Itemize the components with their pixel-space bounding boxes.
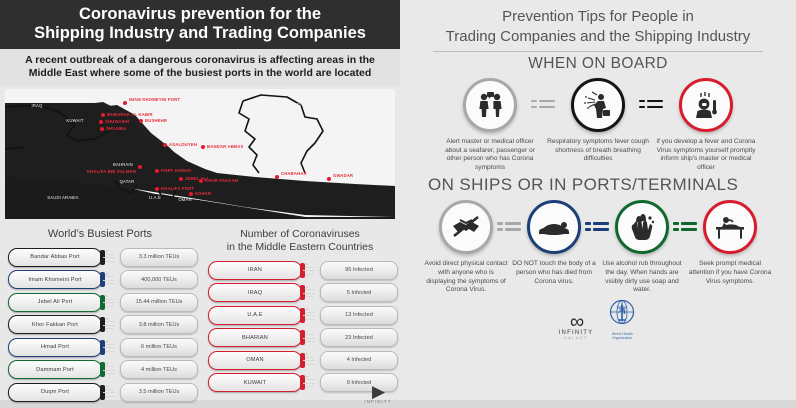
svg-text:IRAN: IRAN	[215, 102, 226, 107]
row-connector	[302, 284, 318, 301]
row-connector	[302, 374, 318, 391]
step-connector	[497, 222, 523, 232]
hand-washing-icon-badge	[615, 200, 669, 254]
country-label-text: IRAQ	[248, 290, 262, 296]
port-value: 6 million TEUs	[120, 338, 198, 357]
infinity-mark-icon: ▶	[360, 385, 396, 399]
port-value-text: 6 million TEUs	[141, 344, 177, 350]
svg-text:KHALIFA PORT: KHALIFA PORT	[161, 186, 194, 191]
step-caption: Avoid direct physical contact with anyon…	[423, 254, 509, 294]
port-value-text: 15.44 million TEUs	[136, 299, 183, 305]
country-value-text: 4 Infected	[347, 357, 372, 363]
country-label: IRAN	[208, 261, 302, 280]
port-label: Khor Fakkan Port	[8, 315, 102, 334]
country-value: 95 Infected	[320, 261, 398, 280]
row-connector	[102, 361, 118, 378]
svg-text:KUWAIT: KUWAIT	[66, 118, 84, 123]
country-label-text: IRAN	[248, 267, 262, 273]
ports-chart: World’s Busiest Ports Bandar Abbas Port3…	[0, 223, 200, 408]
row-connector	[302, 352, 318, 369]
svg-text:SHUWAIKH: SHUWAIKH	[105, 119, 129, 124]
section-heading-onboard: WHEN ON BOARD	[400, 52, 796, 75]
port-value: 3.3 million TEUs	[120, 248, 198, 267]
svg-text:QATAR: QATAR	[120, 179, 135, 184]
prevention-step: DO NOT touch the body of a person who ha…	[510, 200, 598, 294]
prevention-step: Seek prompt medical attention if you hav…	[686, 200, 774, 294]
svg-text:PORT HAMAD: PORT HAMAD	[161, 168, 191, 173]
port-label-text: Jebel Ali Port	[38, 299, 73, 305]
svg-text:CHABAHAR: CHABAHAR	[281, 171, 307, 176]
medical-bed-icon	[714, 214, 746, 240]
port-value: 3.8 million TEUs	[120, 315, 198, 334]
no-handshake-icon-badge	[439, 200, 493, 254]
row-connector	[102, 316, 118, 333]
country-value: 5 Infected	[320, 283, 398, 302]
dead-body-icon	[537, 216, 571, 238]
cases-chart: Number of Coronaviruses in the Middle Ea…	[200, 223, 400, 408]
row-connector	[302, 329, 318, 346]
port-value: 400,000 TEUs	[120, 270, 198, 289]
row-connector	[102, 249, 118, 266]
port-label: Jebel Ali Port	[8, 293, 102, 312]
right-panel: Prevention Tips for People in Trading Co…	[400, 0, 796, 400]
svg-text:GWADAR: GWADAR	[333, 173, 353, 178]
coughing-person-icon	[582, 91, 614, 119]
row-connector	[302, 307, 318, 324]
step-caption: Use alcohol rub throughout the day. When…	[599, 254, 685, 294]
country-label: KUWAIT	[208, 373, 302, 392]
step-caption: Alert master or medical officer about a …	[438, 132, 542, 172]
row-connector	[302, 262, 318, 279]
hand-washing-icon	[627, 213, 657, 241]
svg-text:SOHAR: SOHAR	[195, 191, 211, 196]
infinity-galaxy-logo: ∞ INFINITY GALAXY	[559, 314, 594, 340]
dead-body-icon-badge	[527, 200, 581, 254]
table-row: Duqm Port3.5 million TEUs	[8, 382, 192, 402]
port-value-text: 3.3 million TEUs	[139, 254, 180, 260]
country-label-text: KUWAIT	[244, 380, 266, 386]
svg-text:BAHRAIN: BAHRAIN	[113, 162, 133, 167]
svg-text:IRAQ: IRAQ	[31, 103, 43, 108]
infographic-page: Coronavirus prevention for the Shipping …	[0, 0, 796, 400]
prevention-step: Use alcohol rub throughout the day. When…	[598, 200, 686, 294]
main-title-line1: Coronavirus prevention for the	[6, 5, 394, 24]
medical-bed-icon-badge	[703, 200, 757, 254]
who-emblem-icon	[607, 299, 637, 327]
table-row: IRAQ5 Infected	[208, 283, 392, 303]
port-label-text: Hmad Port	[41, 344, 69, 350]
svg-text:AFGANISTAN: AFGANISTAN	[291, 102, 319, 107]
infinity-name: INFINITY	[559, 330, 594, 336]
country-value: 13 Infected	[320, 306, 398, 325]
row-connector	[102, 271, 118, 288]
country-label: IRAQ	[208, 283, 302, 302]
svg-text:BANDAR ABBAS: BANDAR ABBAS	[207, 144, 243, 149]
left-charts: World’s Busiest Ports Bandar Abbas Port3…	[0, 223, 400, 408]
right-title-line1: Prevention Tips for People in	[400, 7, 796, 27]
ports-chart-title: World’s Busiest Ports	[0, 223, 200, 241]
table-row: Hmad Port6 million TEUs	[8, 337, 192, 357]
cases-chart-rows: IRAN95 InfectedIRAQ5 InfectedU.A.E13 Inf…	[200, 260, 400, 393]
country-label: OMAN	[208, 351, 302, 370]
cases-chart-title-line1: Number of Coronaviruses	[200, 228, 400, 241]
step-caption: if you develop a fever and Corona Virus …	[654, 132, 758, 172]
port-value-text: 400,000 TEUs	[141, 277, 177, 283]
infinity-logo-left: ▶ INFINITY	[360, 385, 396, 404]
no-handshake-icon	[450, 214, 482, 240]
country-value-text: 23 Infected	[345, 335, 373, 341]
two-people-talking-icon-badge	[463, 78, 517, 132]
row-connector	[102, 294, 118, 311]
port-label-text: Khor Fakkan Port	[32, 322, 78, 328]
svg-text:SAUDI ARABIA: SAUDI ARABIA	[47, 195, 79, 200]
svg-text:U.A.E: U.A.E	[149, 195, 161, 200]
svg-text:BUSHEHR: BUSHEHR	[145, 118, 167, 123]
ports-steps: Avoid direct physical contact with anyon…	[400, 197, 796, 294]
port-label: Duqm Port	[8, 383, 102, 402]
left-panel: Coronavirus prevention for the Shipping …	[0, 0, 400, 400]
country-label-text: BHARIAN	[242, 335, 268, 341]
port-label-text: Dammam Port	[36, 367, 74, 373]
table-row: Imam Khomeini Port400,000 TEUs	[8, 270, 192, 290]
svg-text:KHOR FAKKAN: KHOR FAKKAN	[205, 178, 238, 183]
prevention-step: Alert master or medical officer about a …	[436, 78, 544, 172]
who-logo: World Health Organization	[607, 299, 637, 340]
port-value-text: 3.8 million TEUs	[139, 322, 180, 328]
ports-chart-rows: Bandar Abbas Port3.3 million TEUsImam Kh…	[0, 247, 200, 402]
country-value: 23 Infected	[320, 328, 398, 347]
svg-text:PAKISTAN: PAKISTAN	[344, 157, 366, 162]
infinity-sub: GALAXY	[559, 336, 594, 340]
two-people-talking-icon	[475, 91, 505, 119]
row-connector	[102, 384, 118, 401]
prevention-step: Respiratory symptoms fever cough shortne…	[544, 78, 652, 172]
port-label: Bandar Abbas Port	[8, 248, 102, 267]
table-row: Khor Fakkan Port3.8 million TEUs	[8, 315, 192, 335]
table-row: U.A.E13 Infected	[208, 305, 392, 325]
cases-chart-title: Number of Coronaviruses in the Middle Ea…	[200, 223, 400, 254]
footer-logos: ∞ INFINITY GALAXY World Health Organizat…	[400, 295, 796, 340]
map-svg: IRAQ KUWAIT IRAN AFGANISTAN PAKISTAN SAU…	[5, 89, 395, 219]
row-connector	[102, 339, 118, 356]
port-value: 4 million TEUs	[120, 360, 198, 379]
main-title: Coronavirus prevention for the Shipping …	[0, 0, 400, 49]
prevention-step: if you develop a fever and Corona Virus …	[652, 78, 760, 172]
country-label: U.A.E	[208, 306, 302, 325]
table-row: Dammam Port4 million TEUs	[8, 360, 192, 380]
port-label-text: Imam Khomeini Port	[28, 277, 81, 283]
port-value: 3.5 million TEUs	[120, 383, 198, 402]
step-connector	[585, 222, 611, 232]
country-value-text: 13 Infected	[345, 312, 373, 318]
table-row: BHARIAN23 Infected	[208, 328, 392, 348]
svg-text:IMAM KHOMEYNI PORT: IMAM KHOMEYNI PORT	[129, 97, 181, 102]
right-title-line2: Trading Companies and the Shipping Indus…	[400, 27, 796, 47]
infinity-mark-icon: ∞	[559, 314, 594, 330]
port-label: Imam Khomeini Port	[8, 270, 102, 289]
main-subtitle-line2: Middle East where some of the busiest po…	[14, 67, 386, 80]
country-value: 4 Infected	[320, 351, 398, 370]
step-connector	[673, 222, 699, 232]
svg-text:ASALOUYEH: ASALOUYEH	[169, 142, 197, 147]
onboard-steps: Alert master or medical officer about a …	[400, 75, 796, 172]
fever-thermometer-person-icon	[691, 91, 721, 119]
table-row: Jebel Ali Port15.44 million TEUs	[8, 292, 192, 312]
prevention-step: Avoid direct physical contact with anyon…	[422, 200, 510, 294]
table-row: Bandar Abbas Port3.3 million TEUs	[8, 247, 192, 267]
step-connector	[639, 100, 665, 110]
port-label: Dammam Port	[8, 360, 102, 379]
main-subtitle: A recent outbreak of a dangerous coronav…	[0, 49, 400, 86]
right-title: Prevention Tips for People in Trading Co…	[400, 0, 796, 47]
port-label-text: Bandar Abbas Port	[30, 254, 80, 260]
svg-text:OMAN: OMAN	[178, 197, 191, 202]
step-caption: Respiratory symptoms fever cough shortne…	[546, 132, 650, 164]
who-line2: Organization	[607, 336, 637, 340]
port-value-text: 4 million TEUs	[141, 367, 177, 373]
section-heading-ports: ON SHIPS OR IN PORTS/TERMINALS	[400, 172, 796, 197]
main-subtitle-line1: A recent outbreak of a dangerous coronav…	[14, 54, 386, 67]
fever-thermometer-person-icon-badge	[679, 78, 733, 132]
port-value: 15.44 million TEUs	[120, 293, 198, 312]
table-row: IRAN95 Infected	[208, 260, 392, 280]
svg-text:SHUAIBA: SHUAIBA	[106, 126, 126, 131]
cases-chart-title-line2: in the Middle Eastern Countries	[200, 241, 400, 254]
step-caption: Seek prompt medical attention if you hav…	[687, 254, 773, 286]
port-label-text: Duqm Port	[41, 389, 69, 395]
middle-east-map: IRAQ KUWAIT IRAN AFGANISTAN PAKISTAN SAU…	[5, 89, 395, 219]
coughing-person-icon-badge	[571, 78, 625, 132]
main-title-line2: Shipping Industry and Trading Companies	[6, 24, 394, 43]
port-value-text: 3.5 million TEUs	[139, 389, 180, 395]
country-label-text: OMAN	[246, 357, 263, 363]
country-label-text: U.A.E	[247, 312, 262, 318]
country-label: BHARIAN	[208, 328, 302, 347]
svg-text:MUBARAK AL KABIR: MUBARAK AL KABIR	[107, 112, 153, 117]
step-caption: DO NOT touch the body of a person who ha…	[511, 254, 597, 286]
table-row: OMAN4 Infected	[208, 350, 392, 370]
step-connector	[531, 100, 557, 110]
svg-text:KHALIFA BIN SALMAN: KHALIFA BIN SALMAN	[87, 169, 136, 174]
port-label: Hmad Port	[8, 338, 102, 357]
country-value-text: 95 Infected	[345, 267, 373, 273]
country-value-text: 5 Infected	[347, 290, 372, 296]
